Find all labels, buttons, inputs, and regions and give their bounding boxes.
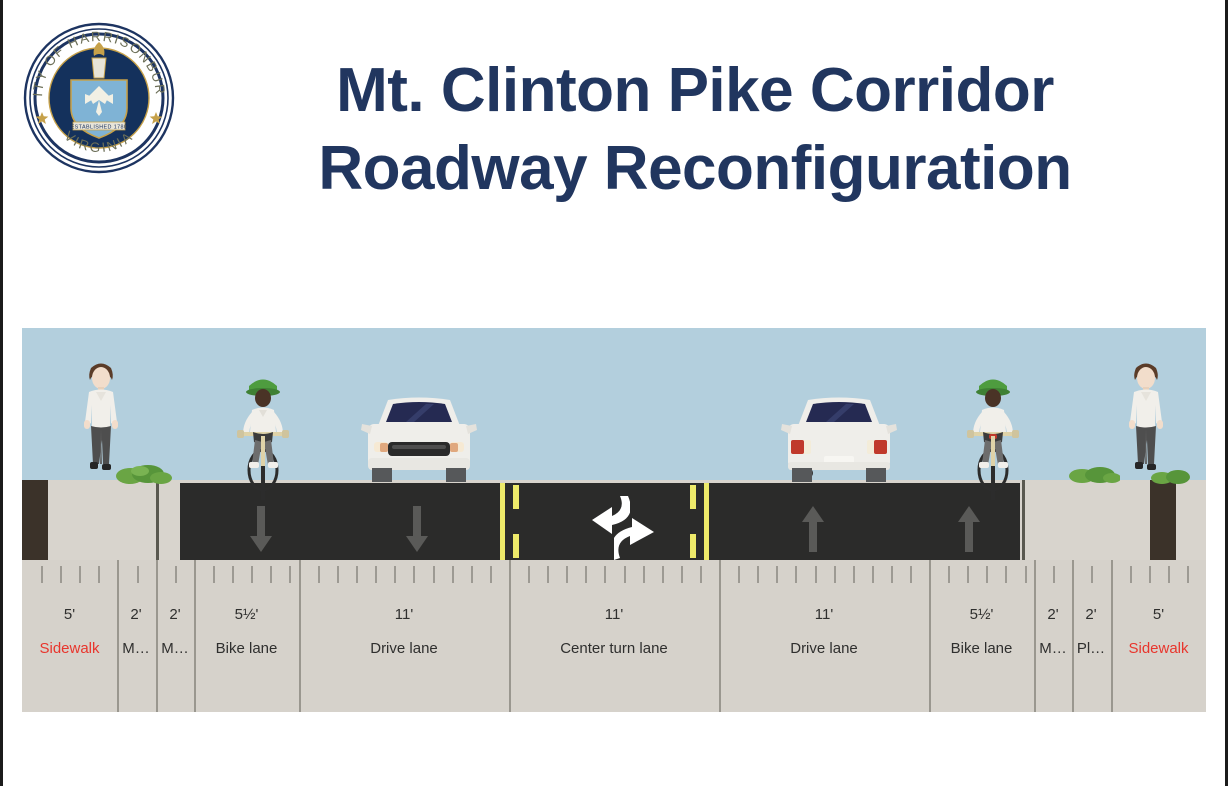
drive-lane-arrow-down-2 (406, 506, 428, 554)
segment-dimension: 2' (1072, 604, 1110, 626)
bush-right (1068, 462, 1120, 484)
ruler-tick (585, 566, 587, 583)
ruler-tick (967, 566, 969, 583)
ruler-tick (471, 566, 473, 583)
ruler-tick (98, 566, 100, 583)
ruler-tick (251, 566, 253, 583)
ruler-tick (547, 566, 549, 583)
street-cross-section-illustration: 5'Sidewalk2'M…2'M…5½'Bike lane11'Drive l… (22, 328, 1206, 712)
segment-label: 11'Drive lane (719, 604, 929, 660)
ruler-tick (1053, 566, 1055, 583)
center-turn-arrow-right (614, 516, 682, 560)
curb-line-left (156, 480, 159, 560)
ruler-tick (1025, 566, 1027, 583)
ruler-tick (452, 566, 454, 583)
segment-dimension: 5' (22, 604, 117, 626)
soil-block-left (22, 480, 48, 560)
ruler-tick (776, 566, 778, 583)
drive-lane-arrow-up-2 (958, 506, 980, 554)
segment-label: 2'M… (117, 604, 155, 660)
ruler-tick (137, 566, 139, 583)
ruler-tick (337, 566, 339, 583)
ruler-tick (1091, 566, 1093, 583)
page-frame-left (0, 0, 3, 786)
ruler-tick (604, 566, 606, 583)
ruler-tick (948, 566, 950, 583)
ruler-tick (60, 566, 62, 583)
ruler-tick (566, 566, 568, 583)
ruler-tick (700, 566, 702, 583)
segment-name: Drive lane (299, 638, 509, 660)
segment-label: 2'Pl… (1072, 604, 1110, 660)
center-lane-dash-yellow-left-top (513, 485, 519, 509)
ruler-tick (662, 566, 664, 583)
center-lane-dash-yellow-right-top (690, 485, 696, 509)
seal-banner-text: ESTABLISHED 1780 (71, 125, 128, 131)
ruler-tick (1149, 566, 1151, 583)
center-lane-solid-yellow-left (500, 483, 505, 560)
segment-dimension: 2' (156, 604, 194, 626)
segment-label: 2'M… (1034, 604, 1072, 660)
segment-name: Sidewalk (1111, 638, 1206, 660)
center-lane-solid-yellow-right (704, 483, 709, 560)
ruler-tick (490, 566, 492, 583)
ruler-tick (910, 566, 912, 583)
segment-name: Sidewalk (22, 638, 117, 660)
segment-name: Bike lane (929, 638, 1034, 660)
ruler-tick (394, 566, 396, 583)
segment-label: 11'Center turn lane (509, 604, 719, 660)
ruler-tick (356, 566, 358, 583)
segment-name: M… (117, 638, 155, 660)
ruler-tick (79, 566, 81, 583)
segment-dimension: 11' (299, 604, 509, 626)
ruler-tick (413, 566, 415, 583)
segment-name: M… (1034, 638, 1072, 660)
segment-dimension: 11' (509, 604, 719, 626)
ruler-tick (1187, 566, 1189, 583)
ruler-tick (986, 566, 988, 583)
segment-name: Bike lane (194, 638, 299, 660)
pedestrian-left (77, 358, 125, 486)
segment-label: 11'Drive lane (299, 604, 509, 660)
segment-label: 2'M… (156, 604, 194, 660)
pedestrian-right (1122, 358, 1170, 486)
ruler-tick (1005, 566, 1007, 583)
ruler-tick (175, 566, 177, 583)
drive-lane-arrow-up-1 (802, 506, 824, 554)
ruler-tick (433, 566, 435, 583)
segment-dimension: 5' (1111, 604, 1206, 626)
city-seal: ESTABLISHED 1780 CITY OF HARRISONBURG VI… (8, 20, 190, 176)
ruler-tick (891, 566, 893, 583)
segment-dimension: 2' (117, 604, 155, 626)
ruler-tick (872, 566, 874, 583)
ruler-tick (681, 566, 683, 583)
drive-lane-arrow-down-1 (250, 506, 272, 554)
segment-label: 5½'Bike lane (194, 604, 299, 660)
ruler-tick (757, 566, 759, 583)
segment-name: Pl… (1072, 638, 1110, 660)
ruler-tick (643, 566, 645, 583)
page-title: Mt. Clinton Pike Corridor Roadway Reconf… (230, 52, 1160, 208)
ruler-tick (815, 566, 817, 583)
ruler-tick (738, 566, 740, 583)
ruler-tick (270, 566, 272, 583)
segment-dimension: 2' (1034, 604, 1072, 626)
segment-dimension: 11' (719, 604, 929, 626)
cyclist-left (232, 370, 294, 500)
segment-label: 5'Sidewalk (1111, 604, 1206, 660)
ruler-tick (795, 566, 797, 583)
segment-label: 5'Sidewalk (22, 604, 117, 660)
segment-name: Drive lane (719, 638, 929, 660)
page-title-line-1: Mt. Clinton Pike Corridor (230, 52, 1160, 130)
soil-block-right (1150, 480, 1176, 560)
ruler-tick (375, 566, 377, 583)
sky (22, 328, 1206, 483)
cyclist-right (962, 370, 1024, 500)
segment-name: Center turn lane (509, 638, 719, 660)
ruler-tick (834, 566, 836, 583)
center-lane-dash-yellow-right-bottom (690, 534, 696, 558)
car-left (354, 388, 484, 488)
ruler-tick (41, 566, 43, 583)
segment-name: M… (156, 638, 194, 660)
ruler-tick (213, 566, 215, 583)
ruler-tick (624, 566, 626, 583)
segment-dimension: 5½' (929, 604, 1034, 626)
ruler-tick (318, 566, 320, 583)
segment-label: 5½'Bike lane (929, 604, 1034, 660)
center-lane-dash-yellow-left-bottom (513, 534, 519, 558)
ruler-tick (853, 566, 855, 583)
slide-page: ESTABLISHED 1780 CITY OF HARRISONBURG VI… (0, 0, 1228, 786)
ruler-tick (1130, 566, 1132, 583)
ruler-tick (528, 566, 530, 583)
dimension-ruler: 5'Sidewalk2'M…2'M…5½'Bike lane11'Drive l… (22, 560, 1206, 712)
car-right (774, 388, 904, 488)
ruler-tick (1168, 566, 1170, 583)
ruler-tick (232, 566, 234, 583)
page-title-line-2: Roadway Reconfiguration (230, 130, 1160, 208)
segment-dimension: 5½' (194, 604, 299, 626)
ruler-tick (289, 566, 291, 583)
